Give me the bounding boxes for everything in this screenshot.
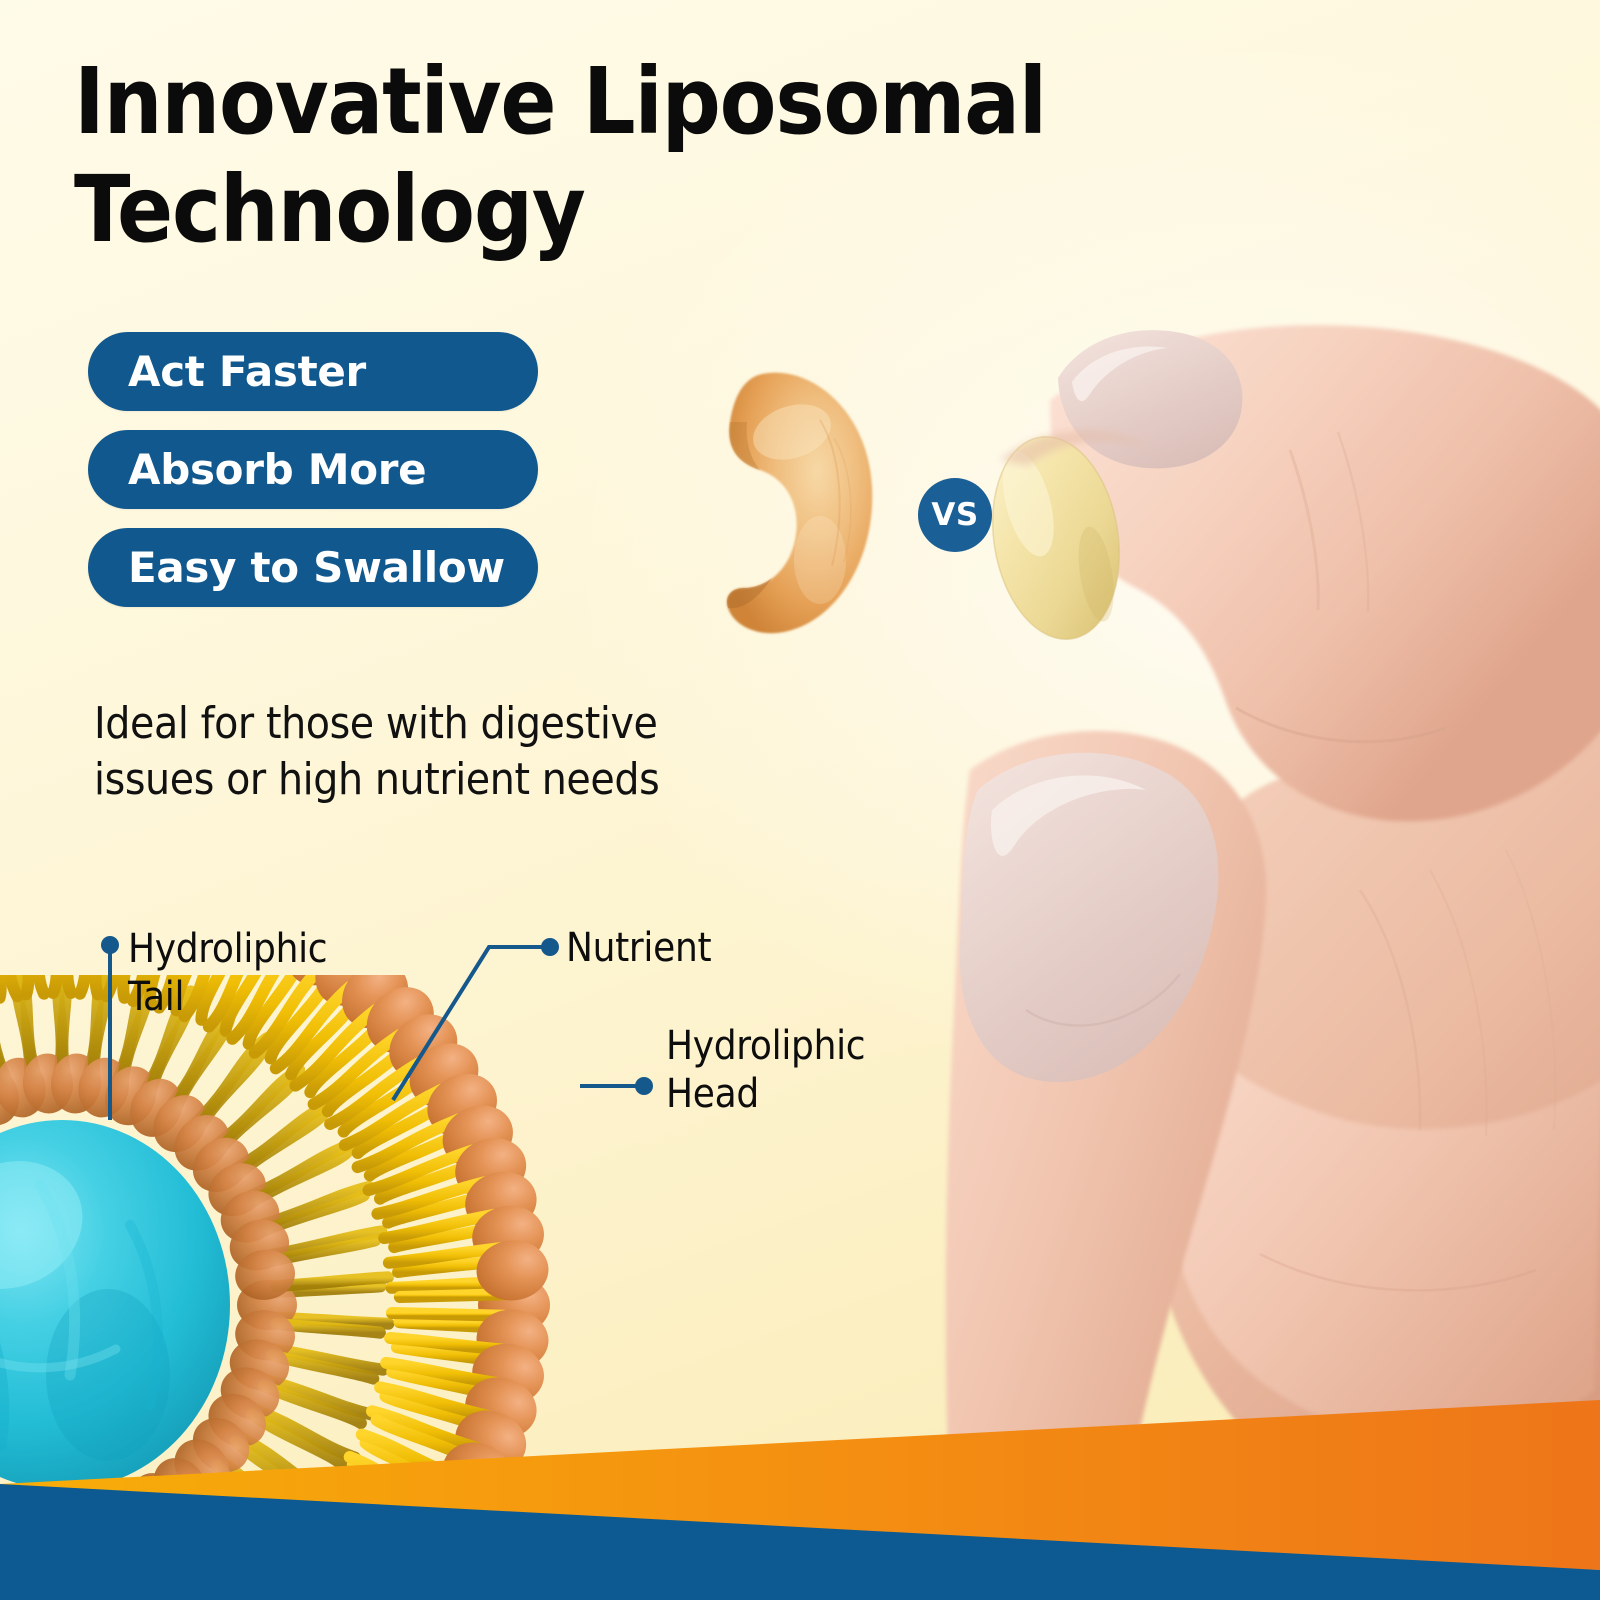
benefit-badge-label: Act Faster (88, 351, 366, 393)
leader-dot-icon (101, 936, 119, 954)
benefit-badge-list: Act Faster Absorb More Easy to Swallow (88, 332, 538, 626)
hand-holding-capsule-image (930, 250, 1600, 1510)
title-line-1: Innovative Liposomal (74, 48, 1204, 156)
title-line-2: Technology (74, 156, 1204, 264)
benefit-badge-act-faster[interactable]: Act Faster (88, 332, 538, 411)
leader-dot-icon (541, 938, 559, 956)
benefit-badge-label: Easy to Swallow (88, 547, 505, 589)
label-hydroliphic-tail: Hydroliphic Tail (128, 925, 327, 1021)
label-hydroliphic-head: Hydroliphic Head (666, 1022, 865, 1118)
subtitle-text: Ideal for those with digestive issues or… (94, 696, 754, 808)
benefit-badge-absorb-more[interactable]: Absorb More (88, 430, 538, 509)
infographic-canvas: Innovative Liposomal Technology Act Fast… (0, 0, 1600, 1600)
page-title: Innovative Liposomal Technology (74, 48, 1204, 264)
benefit-badge-label: Absorb More (88, 449, 426, 491)
label-nutrient: Nutrient (566, 924, 711, 972)
bottom-banner (0, 1400, 1600, 1600)
benefit-badge-easy-to-swallow[interactable]: Easy to Swallow (88, 528, 538, 607)
cashew-nut-image (700, 360, 880, 640)
